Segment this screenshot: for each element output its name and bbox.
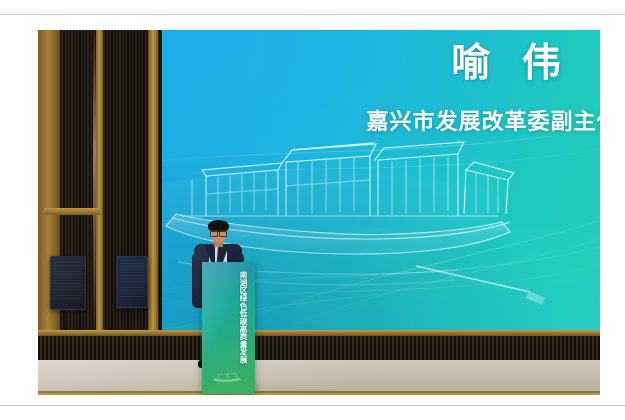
screenshot-root: 喻 伟 嘉兴市发展改革委副主任 — [0, 0, 625, 420]
wall-slat-texture — [60, 30, 160, 360]
stage-photograph: 喻 伟 嘉兴市发展改革委副主任 — [38, 30, 600, 395]
stage-monitor-speaker-right — [116, 256, 148, 308]
eyeglasses-icon — [210, 230, 227, 234]
frame-rule-bottom — [0, 405, 625, 406]
speaking-podium: 南湖区绿色低碳高质量发展 — [202, 262, 255, 394]
stage-front-panel — [38, 393, 600, 395]
speaker-grille-icon — [120, 260, 144, 297]
speaker-name-title: 喻 伟 — [423, 44, 598, 83]
stage-floor — [38, 360, 600, 395]
speaker-grille-icon — [54, 260, 82, 299]
podium-event-text-line-1: 南湖区绿色低碳高质量发展 — [237, 271, 249, 383]
back-wall-rail-top — [38, 330, 600, 336]
wall-gold-pillar-outer — [38, 30, 60, 360]
frame-rule-top — [0, 14, 625, 15]
wall-gold-pillar-inner — [96, 30, 103, 360]
left-architectural-wall — [38, 30, 162, 360]
wall-light-strip — [93, 30, 96, 330]
stage-floor-sheen — [38, 360, 600, 395]
podium-boat-logo-icon — [212, 372, 242, 384]
wall-crossbeam-upper — [44, 208, 100, 215]
speaker-role-subtitle: 嘉兴市发展改革委副主任 — [348, 110, 600, 135]
wall-gold-pillar-right — [148, 30, 158, 360]
stage-monitor-speaker-left — [50, 256, 86, 310]
